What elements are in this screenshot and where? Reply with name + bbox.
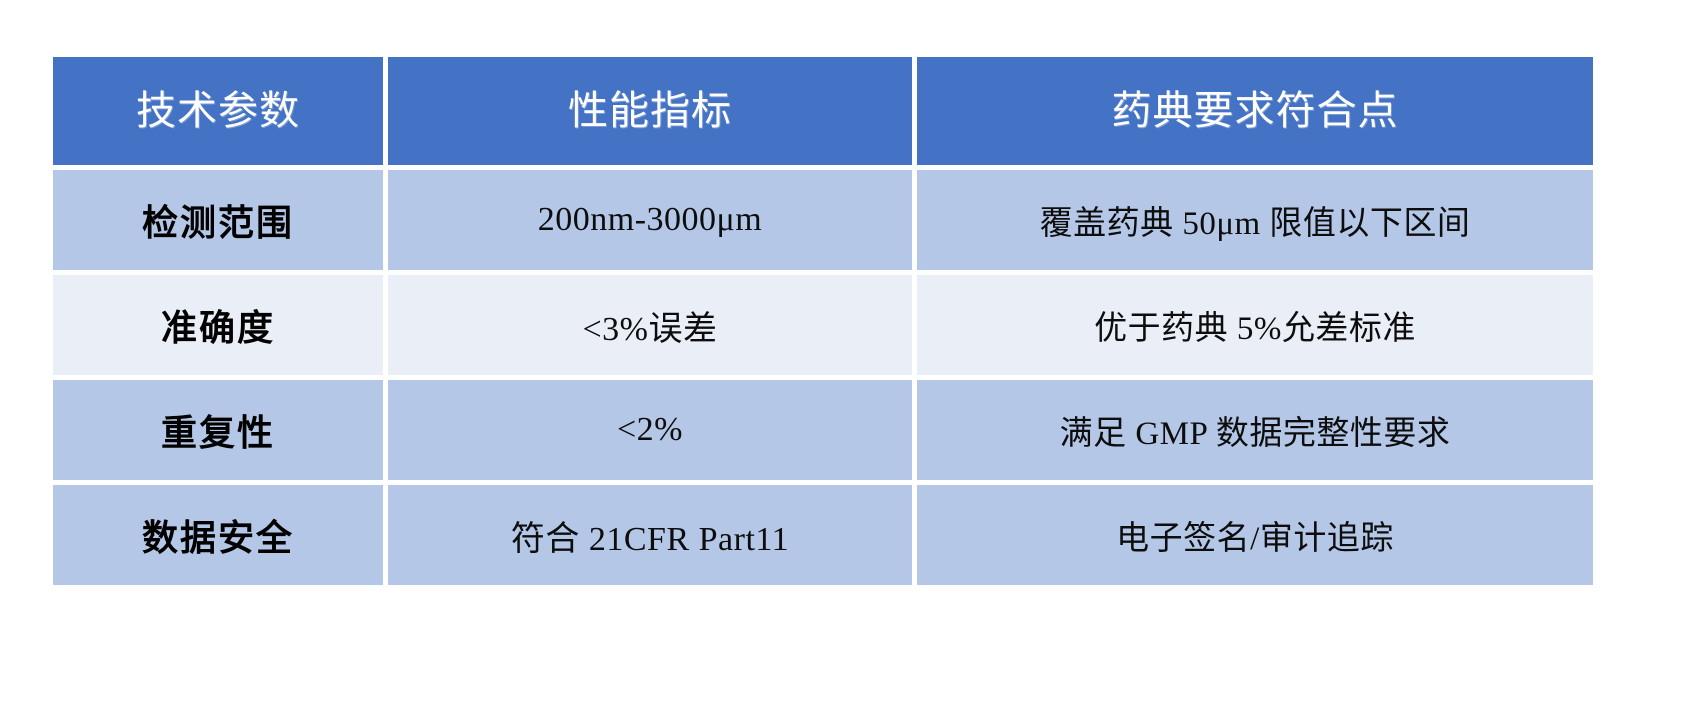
table-body: 检测范围 200nm-3000μm 覆盖药典 50μm 限值以下区间 准确度 <… (53, 170, 1593, 585)
table-row: 检测范围 200nm-3000μm 覆盖药典 50μm 限值以下区间 (53, 170, 1593, 270)
table-row: 重复性 <2% 满足 GMP 数据完整性要求 (53, 380, 1593, 480)
cell-performance-metric: <2% (388, 380, 912, 480)
table-header: 技术参数 性能指标 药典要求符合点 (53, 57, 1593, 165)
cell-parameter-name: 数据安全 (53, 485, 383, 585)
cell-parameter-name: 重复性 (53, 380, 383, 480)
table-row: 准确度 <3%误差 优于药典 5%允差标准 (53, 275, 1593, 375)
column-header-pharmacopoeia-compliance: 药典要求符合点 (917, 57, 1593, 165)
page-canvas: 技术参数 性能指标 药典要求符合点 检测范围 200nm-3000μm 覆盖药典… (0, 0, 1682, 712)
cell-performance-metric: 符合 21CFR Part11 (388, 485, 912, 585)
cell-compliance-note: 电子签名/审计追踪 (917, 485, 1593, 585)
cell-compliance-note: 覆盖药典 50μm 限值以下区间 (917, 170, 1593, 270)
cell-compliance-note: 满足 GMP 数据完整性要求 (917, 380, 1593, 480)
cell-performance-metric: 200nm-3000μm (388, 170, 912, 270)
cell-parameter-name: 检测范围 (53, 170, 383, 270)
cell-compliance-note: 优于药典 5%允差标准 (917, 275, 1593, 375)
cell-parameter-name: 准确度 (53, 275, 383, 375)
cell-performance-metric: <3%误差 (388, 275, 912, 375)
table-row: 数据安全 符合 21CFR Part11 电子签名/审计追踪 (53, 485, 1593, 585)
technical-parameters-table: 技术参数 性能指标 药典要求符合点 检测范围 200nm-3000μm 覆盖药典… (48, 52, 1598, 590)
column-header-technical-parameter: 技术参数 (53, 57, 383, 165)
header-row: 技术参数 性能指标 药典要求符合点 (53, 57, 1593, 165)
column-header-performance-metric: 性能指标 (388, 57, 912, 165)
